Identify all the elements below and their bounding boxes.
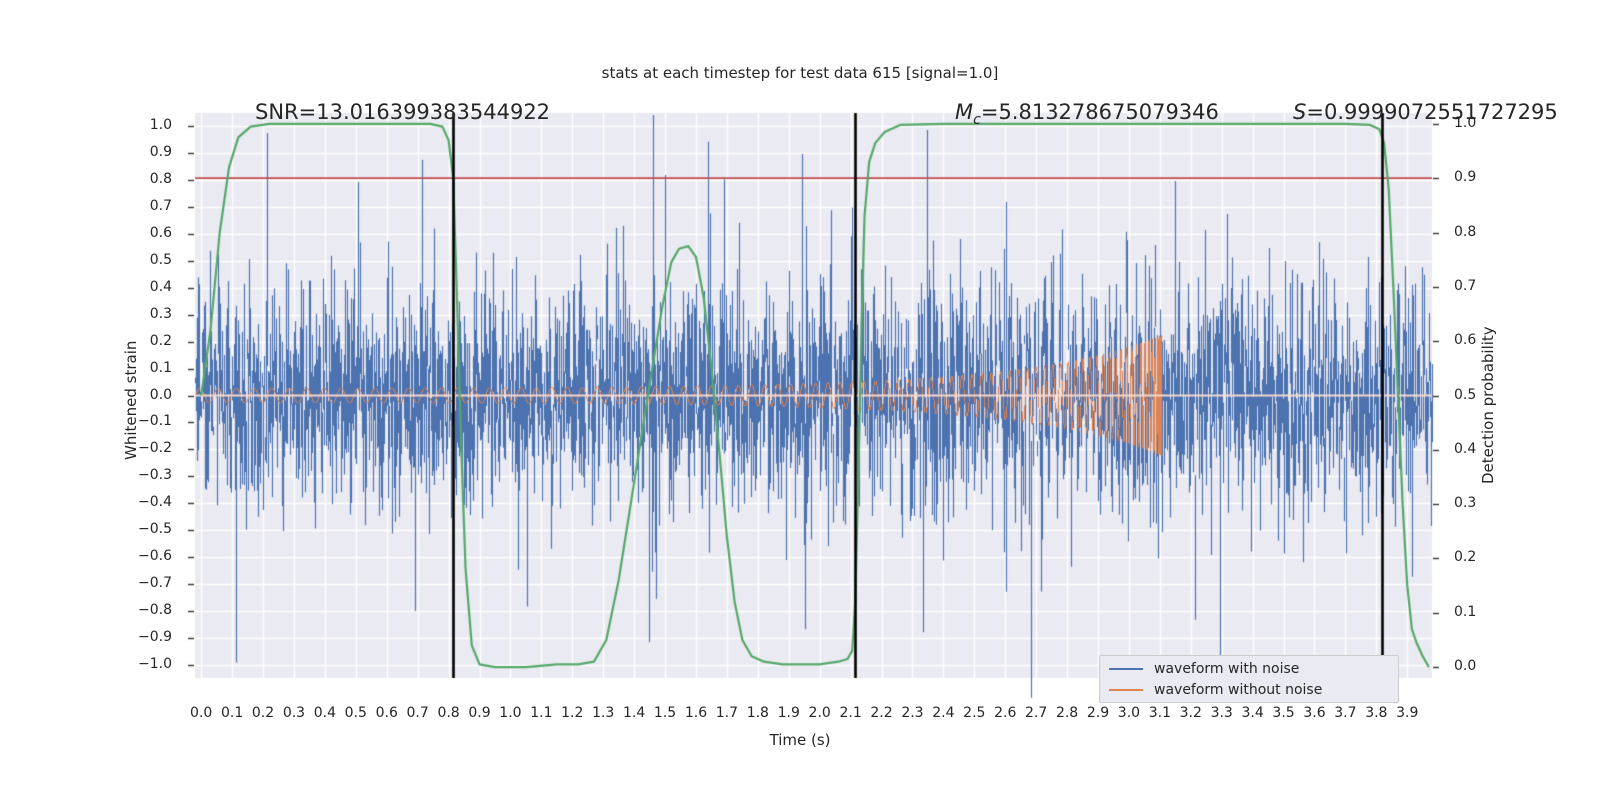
annotation-chirp-mass-symbol: M [955,100,973,124]
y-tick-label-right: 0.5 [1454,387,1504,403]
annotation-chirp-mass-subscript: c [973,112,981,128]
legend-item-waveform-without-noise: waveform without noise [1109,681,1322,699]
y-tick-label-right: 0.0 [1454,658,1504,674]
y-tick-label-left: −0.4 [110,494,172,510]
y-tick-label-left: 0.4 [110,279,172,295]
y-tick-label-left: 0.5 [110,252,172,268]
y-tick-label-right: 0.9 [1454,169,1504,185]
annotation-score-equals: = [1306,100,1324,124]
y-tick-label-left: −1.0 [110,656,172,672]
y-tick-label-left: −0.9 [110,629,172,645]
y-tick-label-left: −0.1 [110,413,172,429]
y-tick-label-right: 0.3 [1454,495,1504,511]
y-tick-label-left: −0.5 [110,521,172,537]
legend-label-1: waveform without noise [1154,682,1322,698]
y-tick-label-right: 0.2 [1454,549,1504,565]
x-tick-label: 3.9 [1382,705,1432,721]
annotation-score-symbol: S [1293,100,1306,124]
y-tick-label-left: 0.7 [110,198,172,214]
annotation-score-value: 0.9999072551727295 [1324,100,1558,124]
y-tick-label-left: 0.0 [110,387,172,403]
y-tick-label-right: 0.7 [1454,278,1504,294]
annotation-chirp-mass-value: 5.813278675079346 [998,100,1218,124]
annotation-snr-value: 13.016399383544922 [316,100,550,124]
annotation-snr-prefix: SNR= [255,100,316,124]
y-tick-label-left: 0.2 [110,333,172,349]
legend: waveform with noise waveform without noi… [1099,655,1399,703]
annotation-snr: SNR=13.016399383544922 [255,100,550,124]
x-axis-label: Time (s) [0,731,1600,749]
y-axis-label-right: Detection probability [1479,326,1497,484]
y-tick-label-right: 1.0 [1454,115,1504,131]
annotation-chirp-mass-equals: = [981,100,999,124]
annotation-score: S=0.9999072551727295 [1293,100,1558,124]
annotation-chirp-mass: Mc=5.813278675079346 [955,100,1219,128]
y-tick-label-left: −0.8 [110,602,172,618]
y-tick-label-right: 0.8 [1454,224,1504,240]
y-tick-label-left: −0.2 [110,440,172,456]
y-tick-label-left: 0.6 [110,225,172,241]
y-tick-label-left: 0.1 [110,360,172,376]
legend-swatch-orange [1109,689,1143,691]
y-tick-label-left: −0.7 [110,575,172,591]
y-tick-label-right: 0.6 [1454,332,1504,348]
figure-canvas-container: stats at each timestep for test data 615… [0,0,1600,800]
legend-swatch-blue [1109,668,1143,670]
y-tick-label-left: −0.6 [110,548,172,564]
y-tick-label-left: 0.3 [110,306,172,322]
legend-item-waveform-with-noise: waveform with noise [1109,660,1299,678]
y-tick-label-left: 0.8 [110,171,172,187]
legend-label-0: waveform with noise [1154,661,1299,677]
y-tick-label-right: 0.1 [1454,604,1504,620]
y-tick-label-left: 1.0 [110,117,172,133]
page-title: stats at each timestep for test data 615… [0,64,1600,82]
y-tick-label-right: 0.4 [1454,441,1504,457]
y-tick-label-left: 0.9 [110,144,172,160]
y-tick-label-left: −0.3 [110,467,172,483]
